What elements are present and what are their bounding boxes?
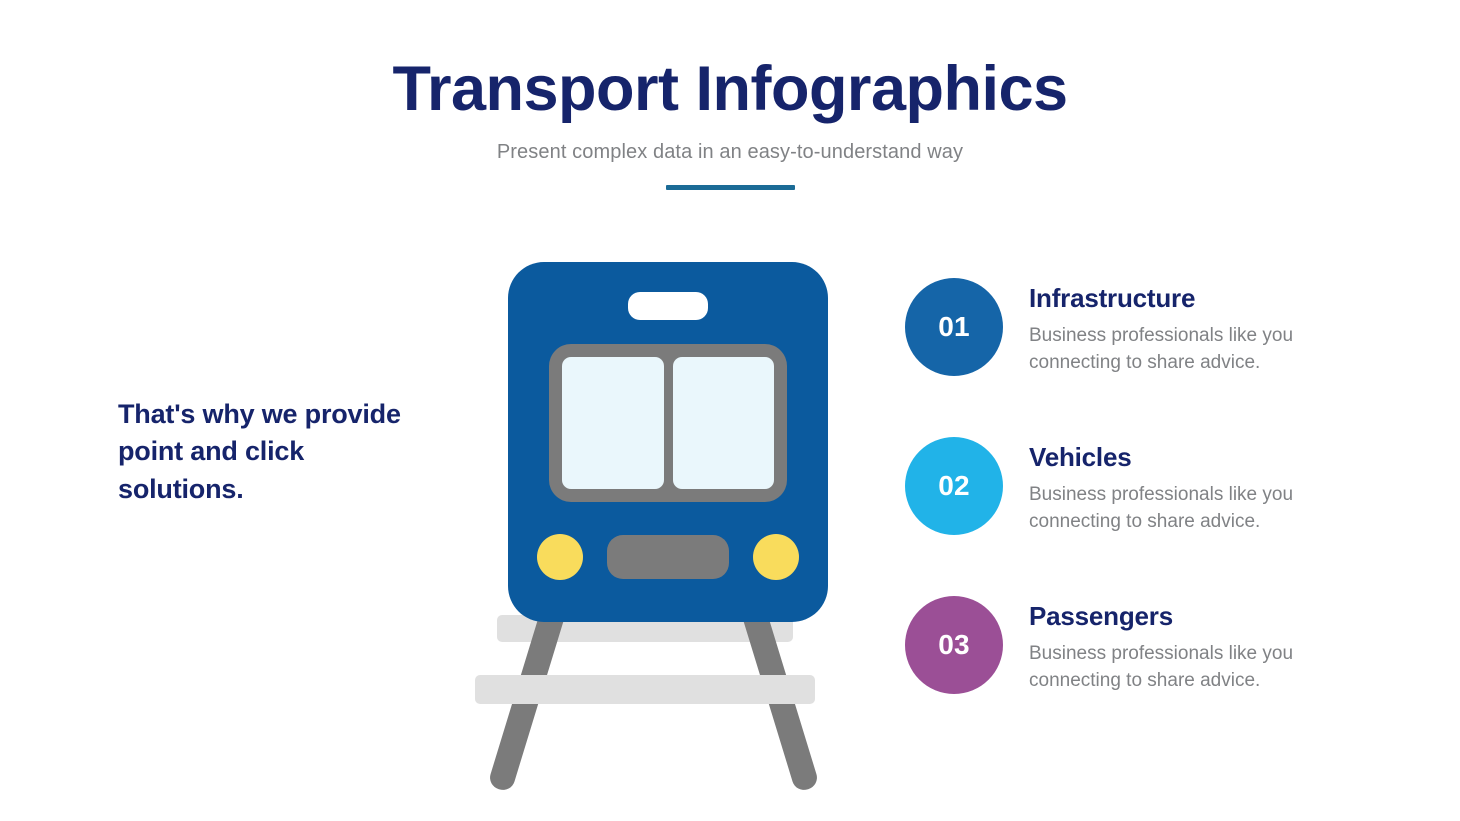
title-divider [666, 185, 795, 190]
rail-sleeper-lower [475, 675, 815, 704]
list-item-text: Vehicles Business professionals like you… [1029, 437, 1339, 536]
step-badge-02: 02 [905, 437, 1003, 535]
list-item-description: Business professionals like you connecti… [1029, 323, 1339, 377]
train-window-frame [549, 344, 787, 502]
feature-list: 01 Infrastructure Business professionals… [905, 278, 1375, 694]
page-subtitle: Present complex data in an easy-to-under… [0, 140, 1460, 164]
list-item[interactable]: 03 Passengers Business professionals lik… [905, 596, 1375, 695]
step-badge-03: 03 [905, 596, 1003, 694]
list-item-description: Business professionals like you connecti… [1029, 482, 1339, 536]
train-destination-sign [628, 292, 708, 320]
train-body [508, 262, 828, 622]
train-window-pane-right [673, 357, 775, 489]
list-item-text: Passengers Business professionals like y… [1029, 596, 1339, 695]
train-front-row [537, 534, 799, 580]
page-title: Transport Infographics [0, 56, 1460, 122]
list-item-title: Passengers [1029, 602, 1339, 632]
train-headlight-right [753, 534, 799, 580]
train-window-pane-left [562, 357, 664, 489]
slide-header: Transport Infographics Present complex d… [0, 56, 1460, 190]
list-item-text: Infrastructure Business professionals li… [1029, 278, 1339, 377]
infographic-slide: Transport Infographics Present complex d… [0, 0, 1460, 821]
list-item[interactable]: 02 Vehicles Business professionals like … [905, 437, 1375, 536]
train-headlight-left [537, 534, 583, 580]
train-grille [607, 535, 729, 579]
list-item[interactable]: 01 Infrastructure Business professionals… [905, 278, 1375, 377]
statement-text: That's why we provide point and click so… [118, 396, 418, 508]
list-item-title: Infrastructure [1029, 284, 1339, 314]
step-badge-01: 01 [905, 278, 1003, 376]
train-illustration [470, 250, 870, 780]
list-item-description: Business professionals like you connecti… [1029, 641, 1339, 695]
list-item-title: Vehicles [1029, 443, 1339, 473]
